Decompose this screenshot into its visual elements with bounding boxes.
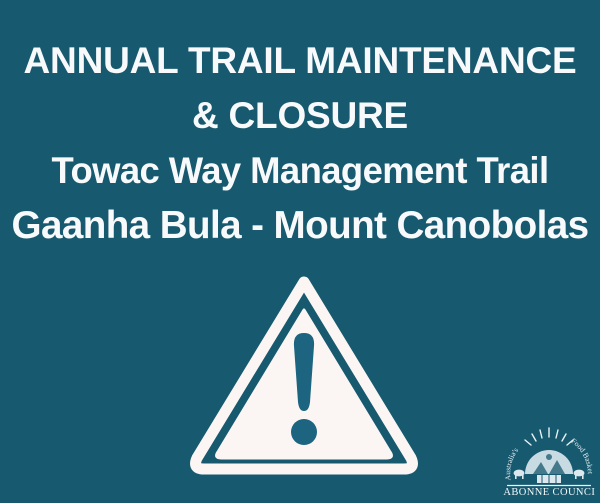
headline-line-4: Gaanha Bula - Mount Canobolas — [3, 203, 597, 249]
exclamation-dot — [291, 419, 317, 445]
warning-triangle-exclamation-icon — [188, 272, 420, 478]
crest-dome — [525, 450, 573, 474]
sun-rays — [525, 428, 573, 445]
headline-line-1: ANNUAL TRAIL MAINTENANCE — [0, 38, 600, 84]
cabonne-council-logo: Australia's Food Basket CABONNE COUNCIL — [503, 426, 595, 498]
headline-line-2: & CLOSURE — [0, 93, 600, 139]
poster-canvas: ANNUAL TRAIL MAINTENANCE & CLOSURE Towac… — [0, 0, 600, 503]
headline-line-3: Towac Way Management Trail — [5, 148, 596, 194]
crest-motto-right: Food Basket — [569, 436, 595, 475]
logo-wordmark: CABONNE COUNCIL — [503, 487, 595, 498]
